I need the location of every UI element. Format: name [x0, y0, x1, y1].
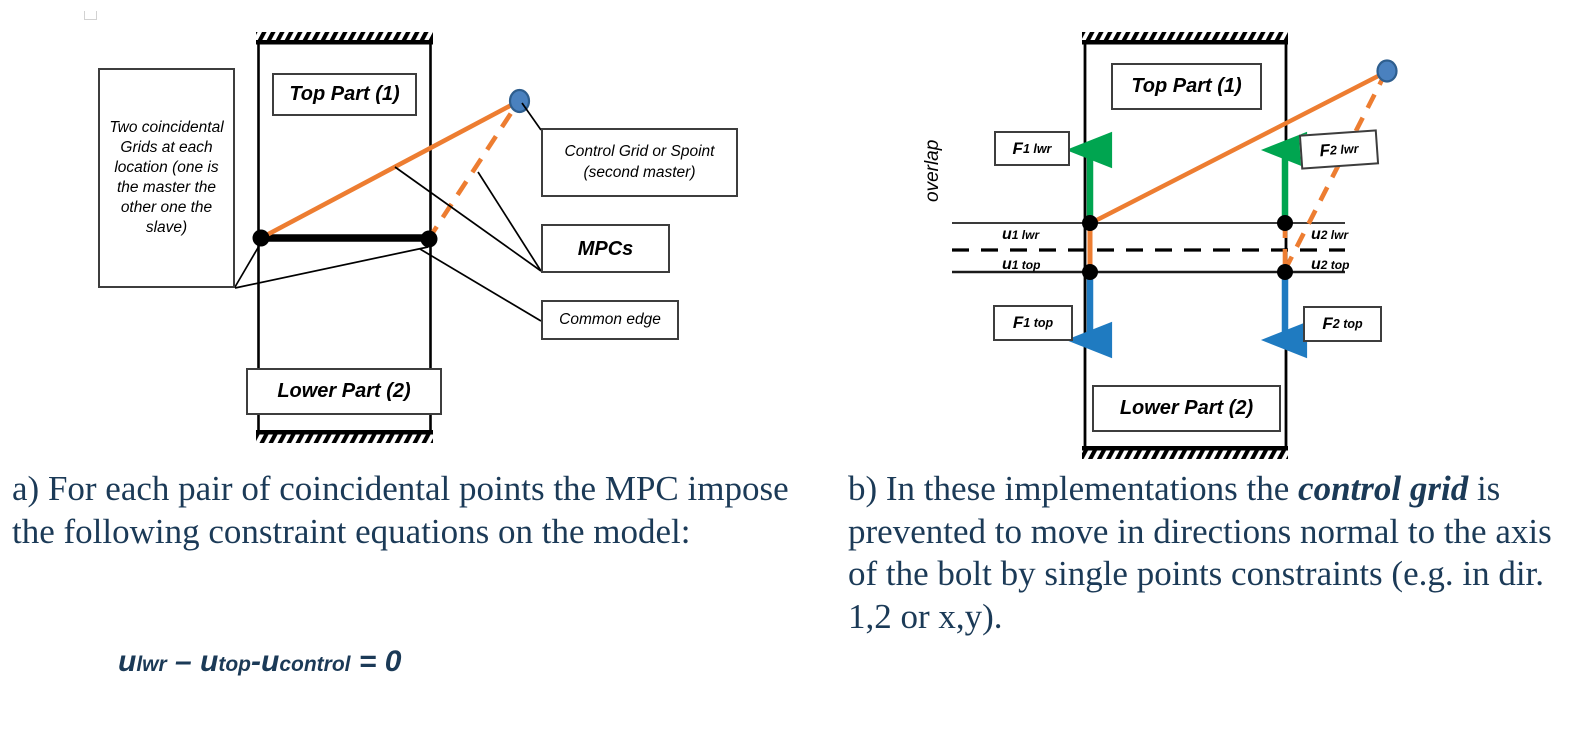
- displacement-label-u2-lwr: u2 lwr: [1311, 226, 1348, 244]
- displacement-base: u: [1002, 256, 1012, 273]
- force-base: F: [1013, 139, 1023, 159]
- equation-term2-subscript: top: [218, 653, 251, 676]
- equation-term1-subscript: lwr: [136, 653, 166, 676]
- constraint-equation: ulwr – utop-ucontrol = 0: [118, 645, 401, 679]
- panel-b-top-support-icon: [1082, 32, 1288, 45]
- panel-b-overlap-axis-label: overlap: [922, 140, 944, 202]
- caption-a-text: a) For each pair of coincidental points …: [12, 469, 789, 551]
- panel-a-top-support-icon: [256, 32, 433, 45]
- caption-a: a) For each pair of coincidental points …: [12, 468, 802, 553]
- callout-mpcs: MPCs: [541, 224, 670, 273]
- displacement-base: u: [1311, 256, 1321, 273]
- note-two-coincidental-grids: Two coincidental Grids at each location …: [98, 68, 235, 288]
- panel-a-mpc-dashed-line: [428, 101, 519, 240]
- diagram-canvas: Two coincidental Grids at each location …: [0, 0, 1578, 751]
- panel-a-bottom-support-icon: [256, 430, 433, 443]
- force-base: F: [1013, 313, 1023, 333]
- panel-a-mpc-solid-line: [261, 101, 519, 238]
- panel-b-node-1-lwr: [1082, 215, 1098, 231]
- equation-term1-base: u: [118, 645, 136, 678]
- force-base: F: [1322, 314, 1332, 334]
- displacement-label-u2-top: u2 top: [1311, 256, 1349, 274]
- panel-a-node-right: [421, 231, 438, 248]
- panel-b-control-grid-node: [1378, 61, 1397, 82]
- displacement-subscript: 1 top: [1012, 258, 1041, 272]
- panel-a-node-left: [253, 230, 270, 247]
- panel-a-leader-lines: [235, 103, 541, 321]
- force-subscript: 2 lwr: [1329, 141, 1358, 157]
- force-label-f1-top: F1 top: [993, 305, 1073, 341]
- panel-b-node-2-top: [1277, 264, 1293, 280]
- displacement-subscript: 1 lwr: [1012, 228, 1039, 242]
- displacement-label-u1-lwr: u1 lwr: [1002, 226, 1039, 244]
- force-label-f1-lwr: F1 lwr: [994, 131, 1070, 166]
- displacement-base: u: [1002, 226, 1012, 243]
- panel-b-top-part-label: Top Part (1): [1111, 63, 1262, 110]
- displacement-subscript: 2 top: [1321, 258, 1350, 272]
- caption-b-emphasis: control grid: [1298, 469, 1468, 508]
- force-label-f2-lwr: F2 lwr: [1299, 129, 1379, 169]
- caption-b: b) In these implementations the control …: [848, 468, 1574, 639]
- callout-common-edge: Common edge: [541, 300, 679, 340]
- panel-b-lower-part-label: Lower Part (2): [1092, 385, 1281, 432]
- force-label-f2-top: F2 top: [1303, 306, 1382, 342]
- force-subscript: 1 top: [1023, 316, 1053, 330]
- callout-control-grid-or-spoint: Control Grid or Spoint (second master): [541, 128, 738, 197]
- equation-term3-subscript: control: [279, 653, 350, 676]
- panel-b-bottom-support-icon: [1082, 446, 1288, 459]
- displacement-label-u1-top: u1 top: [1002, 256, 1040, 274]
- panel-a-lower-part-label: Lower Part (2): [246, 368, 442, 415]
- equation-term2-base: u: [200, 645, 218, 678]
- force-subscript: 1 lwr: [1023, 142, 1052, 156]
- displacement-base: u: [1311, 226, 1321, 243]
- panel-b-node-1-top: [1082, 264, 1098, 280]
- panel-b-node-2-lwr: [1277, 215, 1293, 231]
- caption-b-text-part1: b) In these implementations the: [848, 469, 1298, 508]
- force-subscript: 2 top: [1333, 317, 1363, 331]
- equation-term3-base: u: [261, 645, 279, 678]
- equation-minus: –: [167, 645, 200, 678]
- panel-a-top-part-label: Top Part (1): [272, 73, 417, 116]
- equation-equals: = 0: [351, 645, 402, 678]
- stray-artifact-mark: [84, 11, 97, 20]
- equation-dash: -: [251, 645, 261, 678]
- displacement-subscript: 2 lwr: [1321, 228, 1348, 242]
